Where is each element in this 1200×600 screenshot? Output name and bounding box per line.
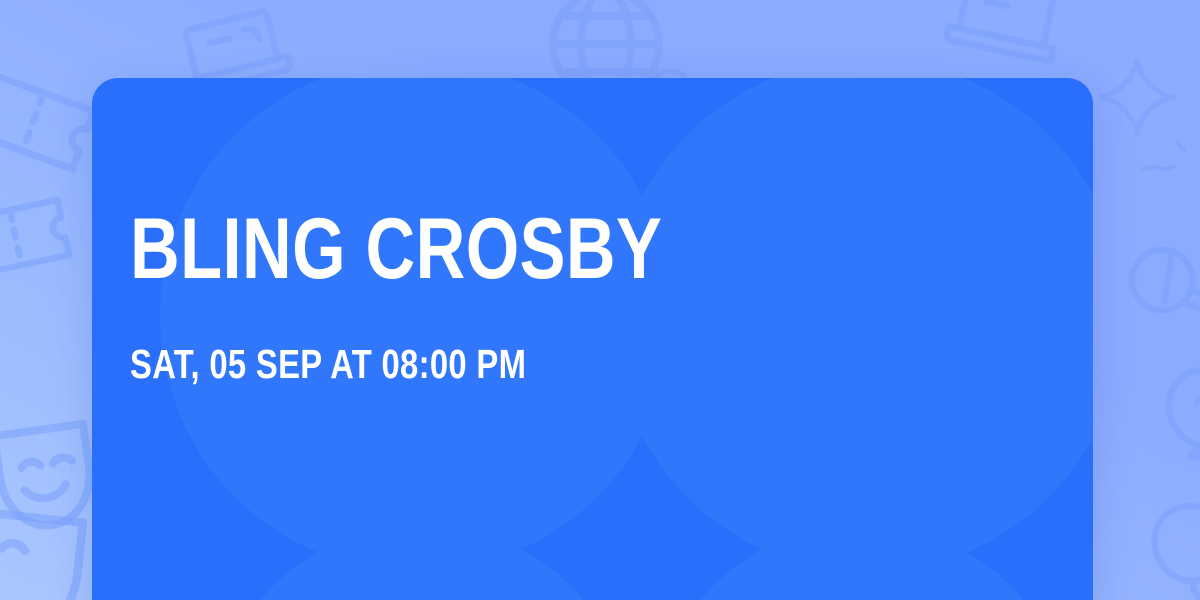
decorative-circle xyxy=(212,524,632,600)
decorative-circle xyxy=(652,524,1072,600)
event-title: Bling Crosby xyxy=(130,206,662,292)
event-date-time: Sat, 05 Sep at 08:00 PM xyxy=(130,344,526,385)
screenshot-root: Bling Crosby Sat, 05 Sep at 08:00 PM xyxy=(0,0,1200,600)
decorative-circle xyxy=(160,78,672,572)
decorative-circle xyxy=(612,78,1093,572)
event-card[interactable]: Bling Crosby Sat, 05 Sep at 08:00 PM xyxy=(92,78,1093,600)
